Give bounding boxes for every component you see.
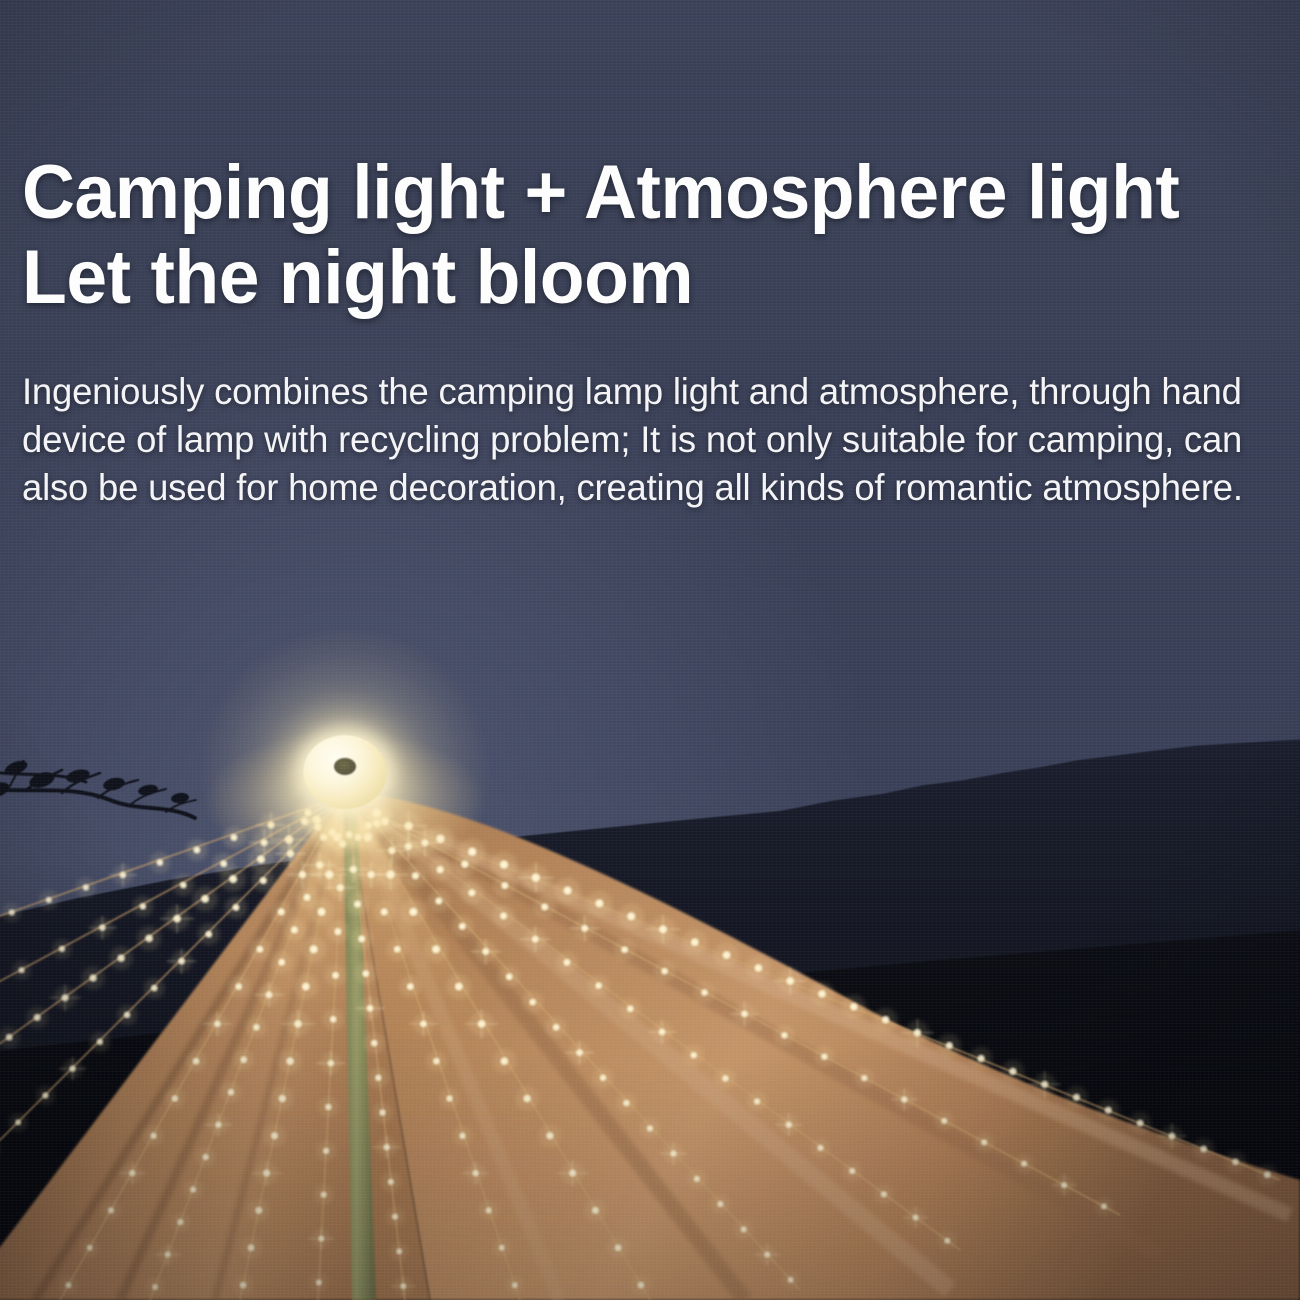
product-banner: Camping light + Atmosphere light Let the… [0, 0, 1300, 1300]
copy-block: Camping light + Atmosphere light Let the… [22, 150, 1292, 512]
body-paragraph: Ingeniously combines the camping lamp li… [22, 368, 1273, 512]
headline-line-1: Camping light + Atmosphere light [22, 150, 1248, 235]
headline-line-2: Let the night bloom [22, 235, 1248, 320]
